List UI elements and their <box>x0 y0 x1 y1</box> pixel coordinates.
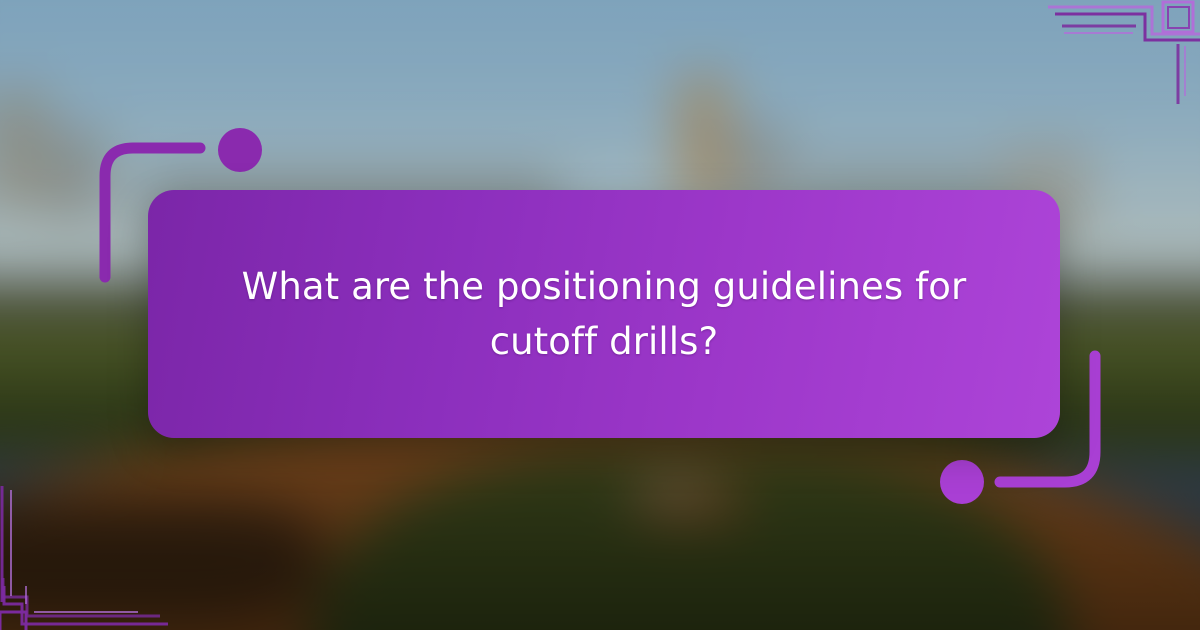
question-text: What are the positioning guidelines for … <box>210 259 998 370</box>
dot-bottom-right-icon <box>940 460 984 504</box>
dot-top-left-icon <box>218 128 262 172</box>
question-card: What are the positioning guidelines for … <box>148 190 1060 438</box>
question-card-graphic: What are the positioning guidelines for … <box>0 0 1200 630</box>
